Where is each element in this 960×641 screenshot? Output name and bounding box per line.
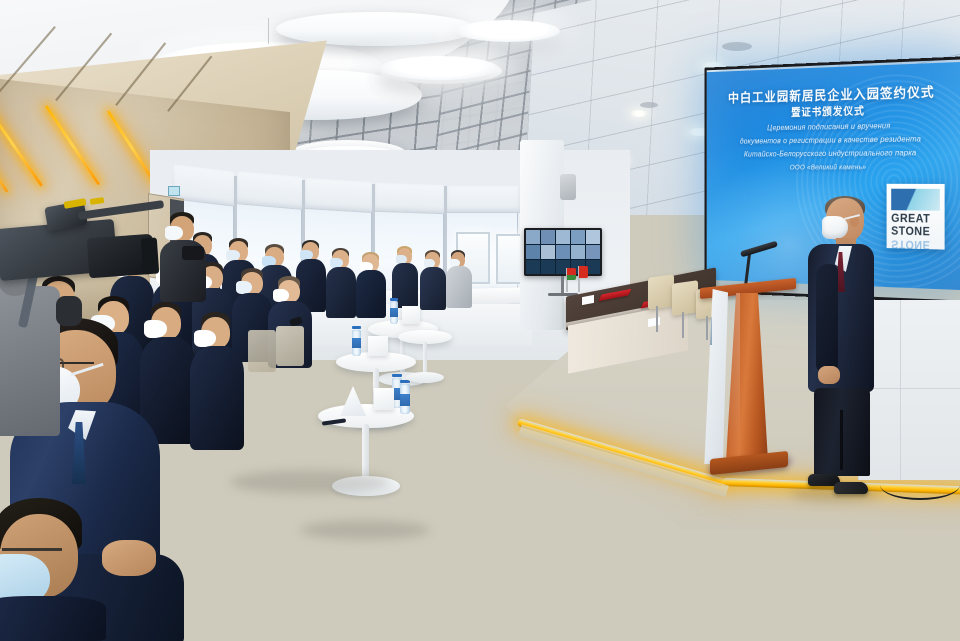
floor-cable [880,470,960,500]
press-photographer [160,212,206,302]
belarus-table-flag [567,268,576,280]
torso [446,266,472,308]
torso [420,267,446,310]
speaker-podium [700,283,796,483]
ceiling-vent [640,102,658,108]
great-stone-logo: GREAT STONE STONE [887,184,945,250]
window-blind [374,183,446,215]
window-blind [446,186,520,213]
torso [326,267,356,318]
chair-leg [656,306,658,332]
stacking-chair[interactable] [248,330,276,372]
photo-camera[interactable] [182,246,204,260]
bottle-label [400,394,410,406]
podium-side-panel [696,289,728,464]
floor-shadow [300,520,430,540]
operator-hand [56,296,82,326]
trouser-split [840,410,843,470]
monitor-screen [526,230,600,274]
great-stone-mark-icon [891,189,940,211]
monitor-stand [561,276,564,294]
amber-led-strip [107,110,156,184]
audience-member-foreground-partial [0,498,106,641]
table-leg [423,342,427,374]
amber-led-strip [45,105,100,185]
bottle-cap [352,326,361,329]
logo-line-2: STONE [891,226,930,239]
clasped-hands [102,540,156,576]
logo-line-1: GREAT [891,213,930,225]
bottle-label [390,308,398,317]
ceiling-vent [722,42,752,51]
eyeglasses [2,548,62,551]
china-table-flag [579,266,588,278]
screen-ru-line-4: ООО «Великий камень» [707,162,960,171]
window-blind [304,178,374,213]
torso [356,270,386,318]
tissue-box [374,388,394,410]
bottle-label [352,338,361,348]
presenter-arm [816,264,838,374]
floor-shadow [230,470,390,494]
camera-lens-hood [141,237,159,274]
ceiling-downlight [630,110,648,117]
amber-led-strip [0,139,8,193]
pendant-light-disc [380,56,498,80]
torso [0,596,106,641]
presenter-at-podium [800,198,878,496]
tissue-box [402,306,420,324]
audience-member [326,248,356,318]
presenter-floor-shadow [790,486,880,502]
logo-reflection: STONE [891,237,930,249]
podium-panel-graphic [702,317,712,345]
screen-ru-line-3: Китайско-Белорусского индустриального па… [707,148,960,159]
table-lower-shelf [406,372,444,383]
chair-leg [682,312,684,338]
table-leg [362,424,369,480]
audience-member [356,252,386,318]
bottle-cap [390,298,398,301]
conference-chair[interactable] [648,274,674,310]
water-bottle[interactable] [390,298,398,324]
audience-member [446,250,472,308]
wall-panel-seam [900,300,901,480]
amber-led-strip [0,102,43,187]
face-mask [165,226,183,240]
wall-speaker [560,174,576,200]
water-bottle[interactable] [352,326,361,356]
conference-chair[interactable] [672,280,698,316]
conference-hall-photo: 中白工业园新居民企业入园签约仪式 暨证书颁发仪式 Церемония подпи… [0,0,960,641]
acoustic-disc [276,12,476,46]
audience-member [420,250,446,310]
round-side-table [398,330,452,386]
pendant-light-disc [456,20,560,42]
tissue-box [368,336,388,356]
camera-handle-accent [90,197,105,205]
podium-column [726,293,768,461]
ceiling-downlight [700,62,726,72]
stacking-chair[interactable] [276,326,304,366]
presenter-hands [818,366,840,384]
exit-sign [168,186,180,196]
pendant-stem [268,18,269,44]
window-blind [236,171,304,210]
